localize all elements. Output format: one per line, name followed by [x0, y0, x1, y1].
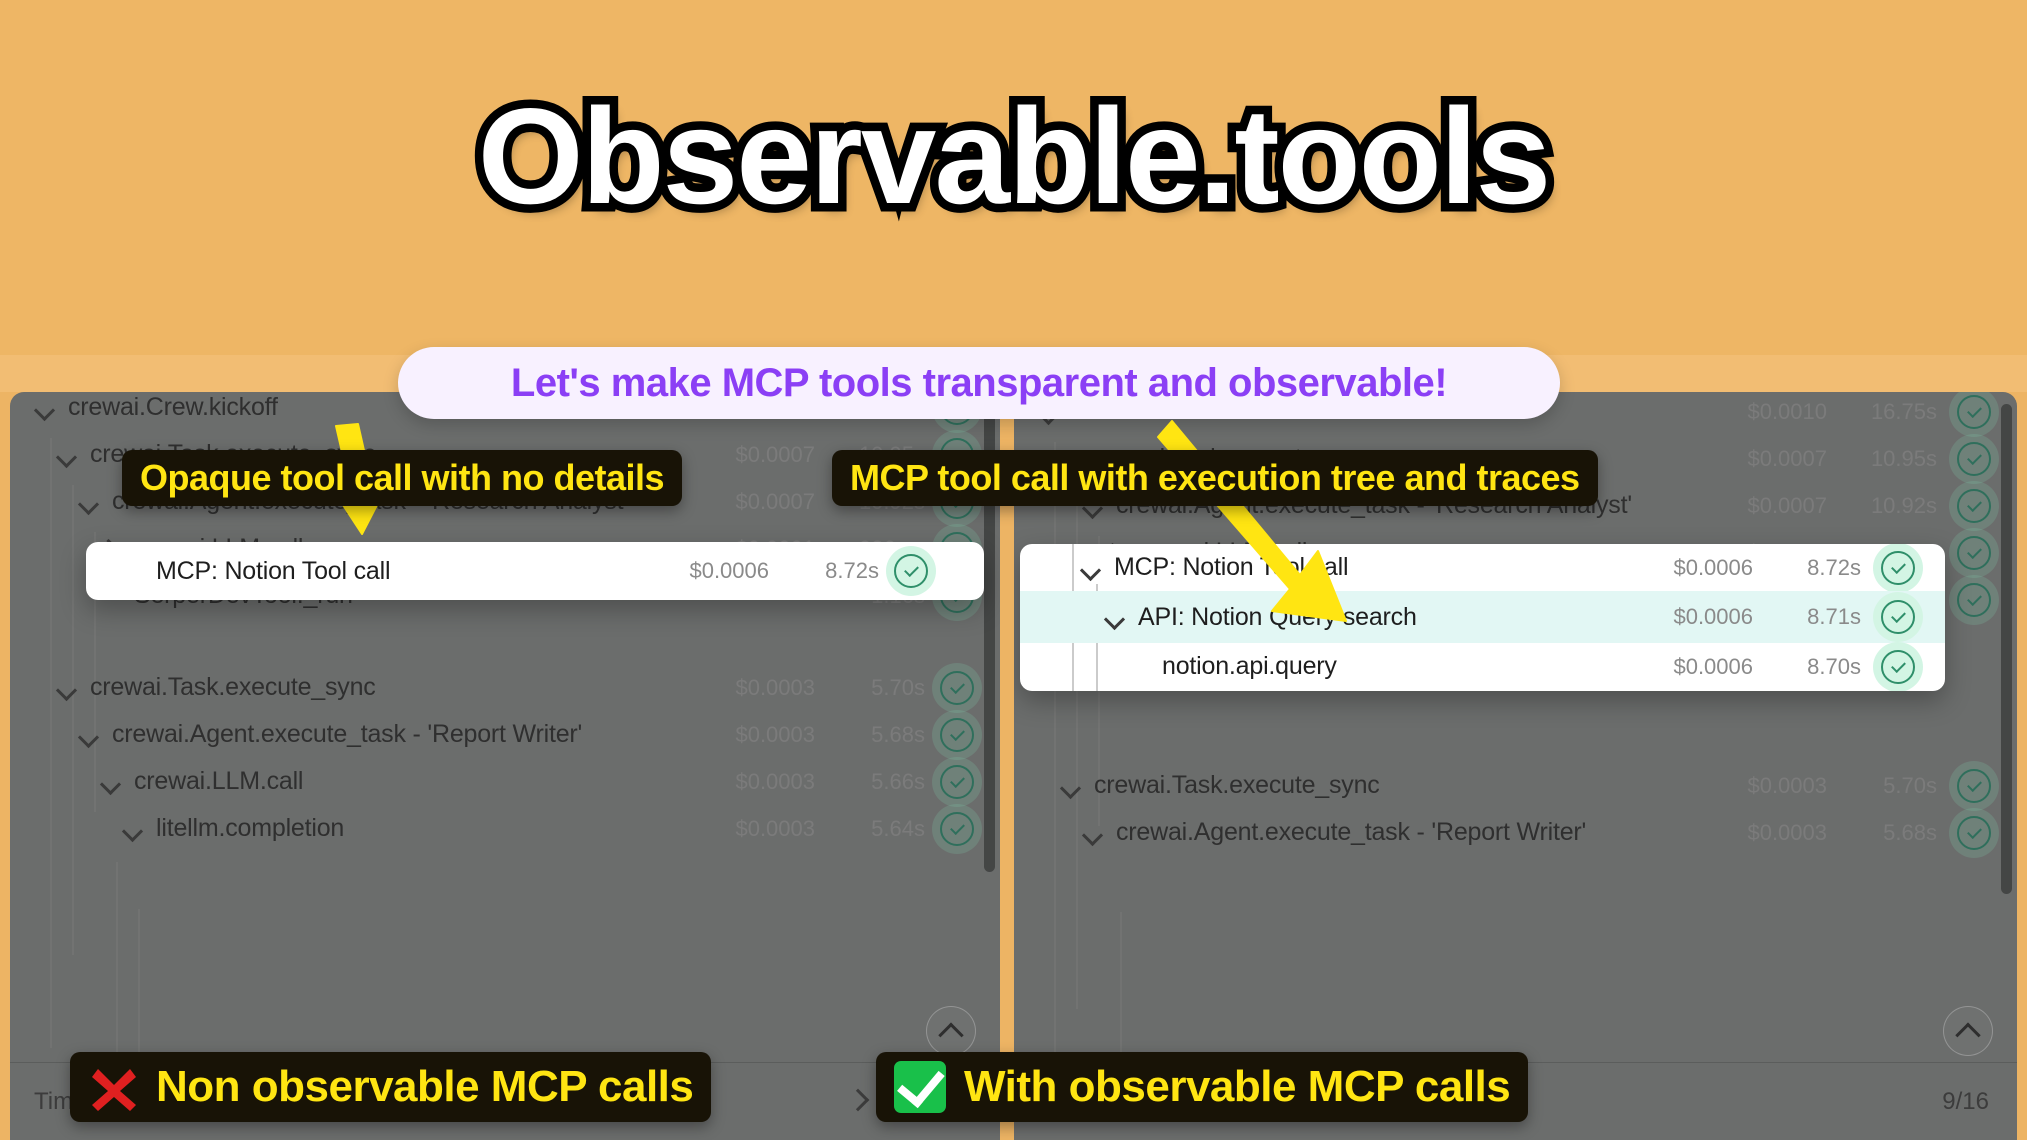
table-row[interactable]: crewai.Task.execute_sync $0.0003 5.70s — [1014, 762, 2017, 809]
span-label: notion.api.query — [1162, 652, 1337, 681]
next-page-icon[interactable] — [848, 1092, 868, 1112]
chevron-down-icon[interactable] — [32, 395, 58, 421]
span-duration: 8.72s — [1761, 555, 1861, 581]
span-label: crewai.Crew.kickoff — [68, 393, 278, 422]
chevron-down-icon[interactable] — [76, 489, 102, 515]
status-success-icon — [1957, 816, 1991, 850]
span-cost: $0.0010 — [1707, 399, 1827, 425]
span-cost: $0.0007 — [1707, 446, 1827, 472]
chevron-down-icon[interactable] — [76, 722, 102, 748]
chevron-down-icon[interactable] — [98, 769, 124, 795]
status-success-icon — [894, 554, 928, 588]
span-label: MCP: Notion Tool call — [156, 557, 390, 586]
span-duration: 5.68s — [1837, 820, 1937, 846]
span-cost: $0.0006 — [1633, 654, 1753, 680]
span-cost: $0.0006 — [1633, 555, 1753, 581]
span-cost: $0.0007 — [1707, 493, 1827, 519]
span-cost: $0.0003 — [695, 816, 815, 842]
table-row[interactable]: API: Notion Query search $0.0006 8.71s — [1020, 591, 1945, 643]
cross-mark-icon — [88, 1061, 140, 1113]
status-success-icon — [1957, 536, 1991, 570]
table-row[interactable]: crewai.Agent.execute_task - 'Report Writ… — [1014, 809, 2017, 856]
callout-right-top: MCP tool call with execution tree and tr… — [832, 450, 1598, 506]
span-duration: 8.72s — [779, 558, 879, 584]
callout-text: Non observable MCP calls — [156, 1062, 693, 1112]
page-title: Observable.tools — [0, 88, 2027, 224]
status-success-icon — [1957, 769, 1991, 803]
status-success-icon — [1881, 551, 1915, 585]
span-cost: $0.0003 — [695, 722, 815, 748]
chevron-down-icon[interactable] — [1058, 773, 1084, 799]
table-row[interactable]: MCP: Notion Tool call $0.0006 8.72s — [1020, 544, 1945, 591]
table-row[interactable]: crewai.Agent.execute_task - 'Report Writ… — [10, 711, 1000, 758]
chevron-down-icon[interactable] — [1080, 820, 1106, 846]
span-label: crewai.Task.execute_sync — [90, 673, 376, 702]
span-duration: 16.75s — [1837, 399, 1937, 425]
status-success-icon — [940, 765, 974, 799]
callout-left-bottom: Non observable MCP calls — [70, 1052, 711, 1122]
span-cost: $0.0003 — [1707, 820, 1827, 846]
span-cost: $0.0007 — [695, 442, 815, 468]
span-duration: 10.95s — [1837, 446, 1937, 472]
pagination-indicator: 9/16 — [1942, 1088, 1989, 1116]
callout-text: Opaque tool call with no details — [140, 457, 664, 499]
status-success-icon — [940, 671, 974, 705]
span-cost: $0.0006 — [1633, 604, 1753, 630]
span-cost: $0.0007 — [695, 489, 815, 515]
span-duration: 5.70s — [1837, 773, 1937, 799]
span-cost: $0.0006 — [649, 558, 769, 584]
status-success-icon — [1881, 600, 1915, 634]
chevron-down-icon[interactable] — [1078, 555, 1104, 581]
status-success-icon — [1957, 583, 1991, 617]
span-duration: 10.92s — [1837, 493, 1937, 519]
callout-text: MCP tool call with execution tree and tr… — [850, 457, 1580, 499]
table-row[interactable]: crewai.Task.execute_sync $0.0003 5.70s — [10, 664, 1000, 711]
status-success-icon — [940, 718, 974, 752]
callout-left-top: Opaque tool call with no details — [122, 450, 682, 506]
span-duration: 5.70s — [825, 675, 925, 701]
collapse-timeline-button[interactable] — [1943, 1006, 1993, 1056]
table-row[interactable]: crewai.LLM.call $0.0003 5.66s — [10, 758, 1000, 805]
vertical-scrollbar[interactable] — [2001, 404, 2012, 894]
span-duration: 5.66s — [825, 769, 925, 795]
status-success-icon — [1957, 442, 1991, 476]
span-cost: $0.0003 — [695, 769, 815, 795]
tree-guide-line — [138, 909, 140, 1054]
span-label: crewai.LLM.call — [134, 767, 303, 796]
span-label: MCP: Notion Tool call — [1114, 553, 1348, 582]
chevron-placeholder-icon — [1126, 654, 1152, 680]
span-label: crewai.Task.execute_sync — [1094, 771, 1380, 800]
callout-text: With observable MCP calls — [964, 1062, 1510, 1112]
span-label: litellm.completion — [156, 814, 344, 843]
span-duration: 5.68s — [825, 722, 925, 748]
status-success-icon — [1957, 489, 1991, 523]
chevron-down-icon[interactable] — [54, 675, 80, 701]
tree-guide-line — [1120, 912, 1122, 1062]
span-label: crewai.Agent.execute_task - 'Report Writ… — [112, 720, 582, 749]
span-duration: 8.71s — [1761, 604, 1861, 630]
chevron-down-icon[interactable] — [54, 442, 80, 468]
span-cost: $0.0003 — [695, 675, 815, 701]
check-mark-icon — [894, 1061, 946, 1113]
chevron-down-icon[interactable] — [120, 816, 146, 842]
table-row[interactable]: MCP: Notion Tool call $0.0006 8.72s — [86, 547, 984, 595]
status-success-icon — [940, 812, 974, 846]
hero-banner: Observable.tools — [0, 0, 2027, 392]
highlighted-mcp-subtree-card[interactable]: MCP: Notion Tool call $0.0006 8.72s API:… — [1020, 544, 1945, 691]
span-cost: $0.0003 — [1707, 773, 1827, 799]
span-duration: 8.70s — [1761, 654, 1861, 680]
table-row[interactable]: notion.api.query $0.0006 8.70s — [1020, 643, 1945, 690]
span-duration: 5.64s — [825, 816, 925, 842]
callout-right-bottom: With observable MCP calls — [876, 1052, 1528, 1122]
status-success-icon — [1957, 395, 1991, 429]
subtitle-pill: Let's make MCP tools transparent and obs… — [398, 347, 1560, 419]
table-row[interactable]: litellm.completion $0.0003 5.64s — [10, 805, 1000, 852]
subtitle-text: Let's make MCP tools transparent and obs… — [511, 361, 1447, 406]
highlighted-mcp-row-card[interactable]: MCP: Notion Tool call $0.0006 8.72s — [86, 542, 984, 600]
chevron-down-icon[interactable] — [1102, 604, 1128, 630]
span-label: crewai.Agent.execute_task - 'Report Writ… — [1116, 818, 1586, 847]
collapse-timeline-button[interactable] — [926, 1006, 976, 1056]
tree-guide-line — [116, 862, 118, 1052]
status-success-icon — [1881, 650, 1915, 684]
chevron-placeholder-icon — [120, 558, 146, 584]
span-label: API: Notion Query search — [1138, 603, 1417, 632]
